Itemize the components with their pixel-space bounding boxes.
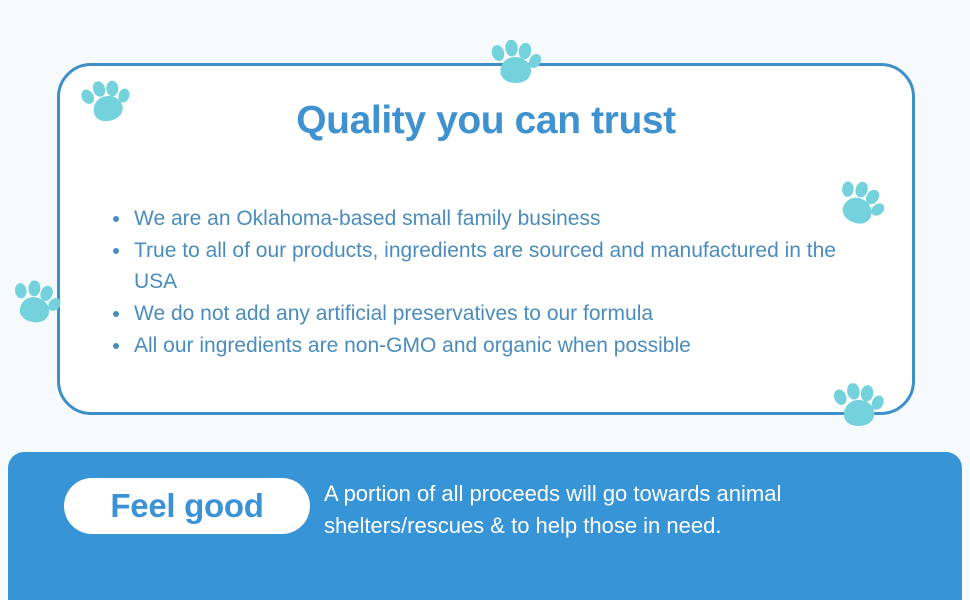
quality-card: Quality you can trust We are an Oklahoma… <box>57 63 915 415</box>
list-item-text: All our ingredients are non-GMO and orga… <box>134 334 691 357</box>
bullet-dot-icon <box>113 216 119 222</box>
banner-message-line-2: shelters/rescues & to help those in need… <box>324 510 934 542</box>
list-item-text: We are an Oklahoma-based small family bu… <box>134 207 600 230</box>
promo-graphic: Quality you can trust We are an Oklahoma… <box>0 0 970 600</box>
paw-print-top-center <box>487 40 543 88</box>
feel-good-badge-label: Feel good <box>110 487 263 525</box>
list-item-text: We do not add any artificial preservativ… <box>134 302 653 325</box>
paw-print-left-edge <box>4 277 65 332</box>
page-title: Quality you can trust <box>60 99 912 143</box>
bullet-dot-icon <box>113 248 119 254</box>
list-item-text: True to all of our products, ingredients… <box>134 239 836 293</box>
list-item: We are an Oklahoma-based small family bu… <box>107 203 882 234</box>
banner-message-line-1: A portion of all proceeds will go toward… <box>324 478 934 510</box>
bullet-dot-icon <box>113 343 119 349</box>
banner-message: A portion of all proceeds will go toward… <box>324 478 934 542</box>
list-item: We do not add any artificial preservativ… <box>107 298 882 329</box>
feel-good-banner: Feel good A portion of all proceeds will… <box>8 452 962 600</box>
bullet-dot-icon <box>113 311 119 317</box>
quality-bullet-list: We are an Oklahoma-based small family bu… <box>107 203 882 362</box>
list-item: True to all of our products, ingredients… <box>107 235 882 297</box>
list-item: All our ingredients are non-GMO and orga… <box>107 330 882 361</box>
paw-print-bottom-right <box>828 381 887 433</box>
feel-good-badge: Feel good <box>64 478 310 534</box>
